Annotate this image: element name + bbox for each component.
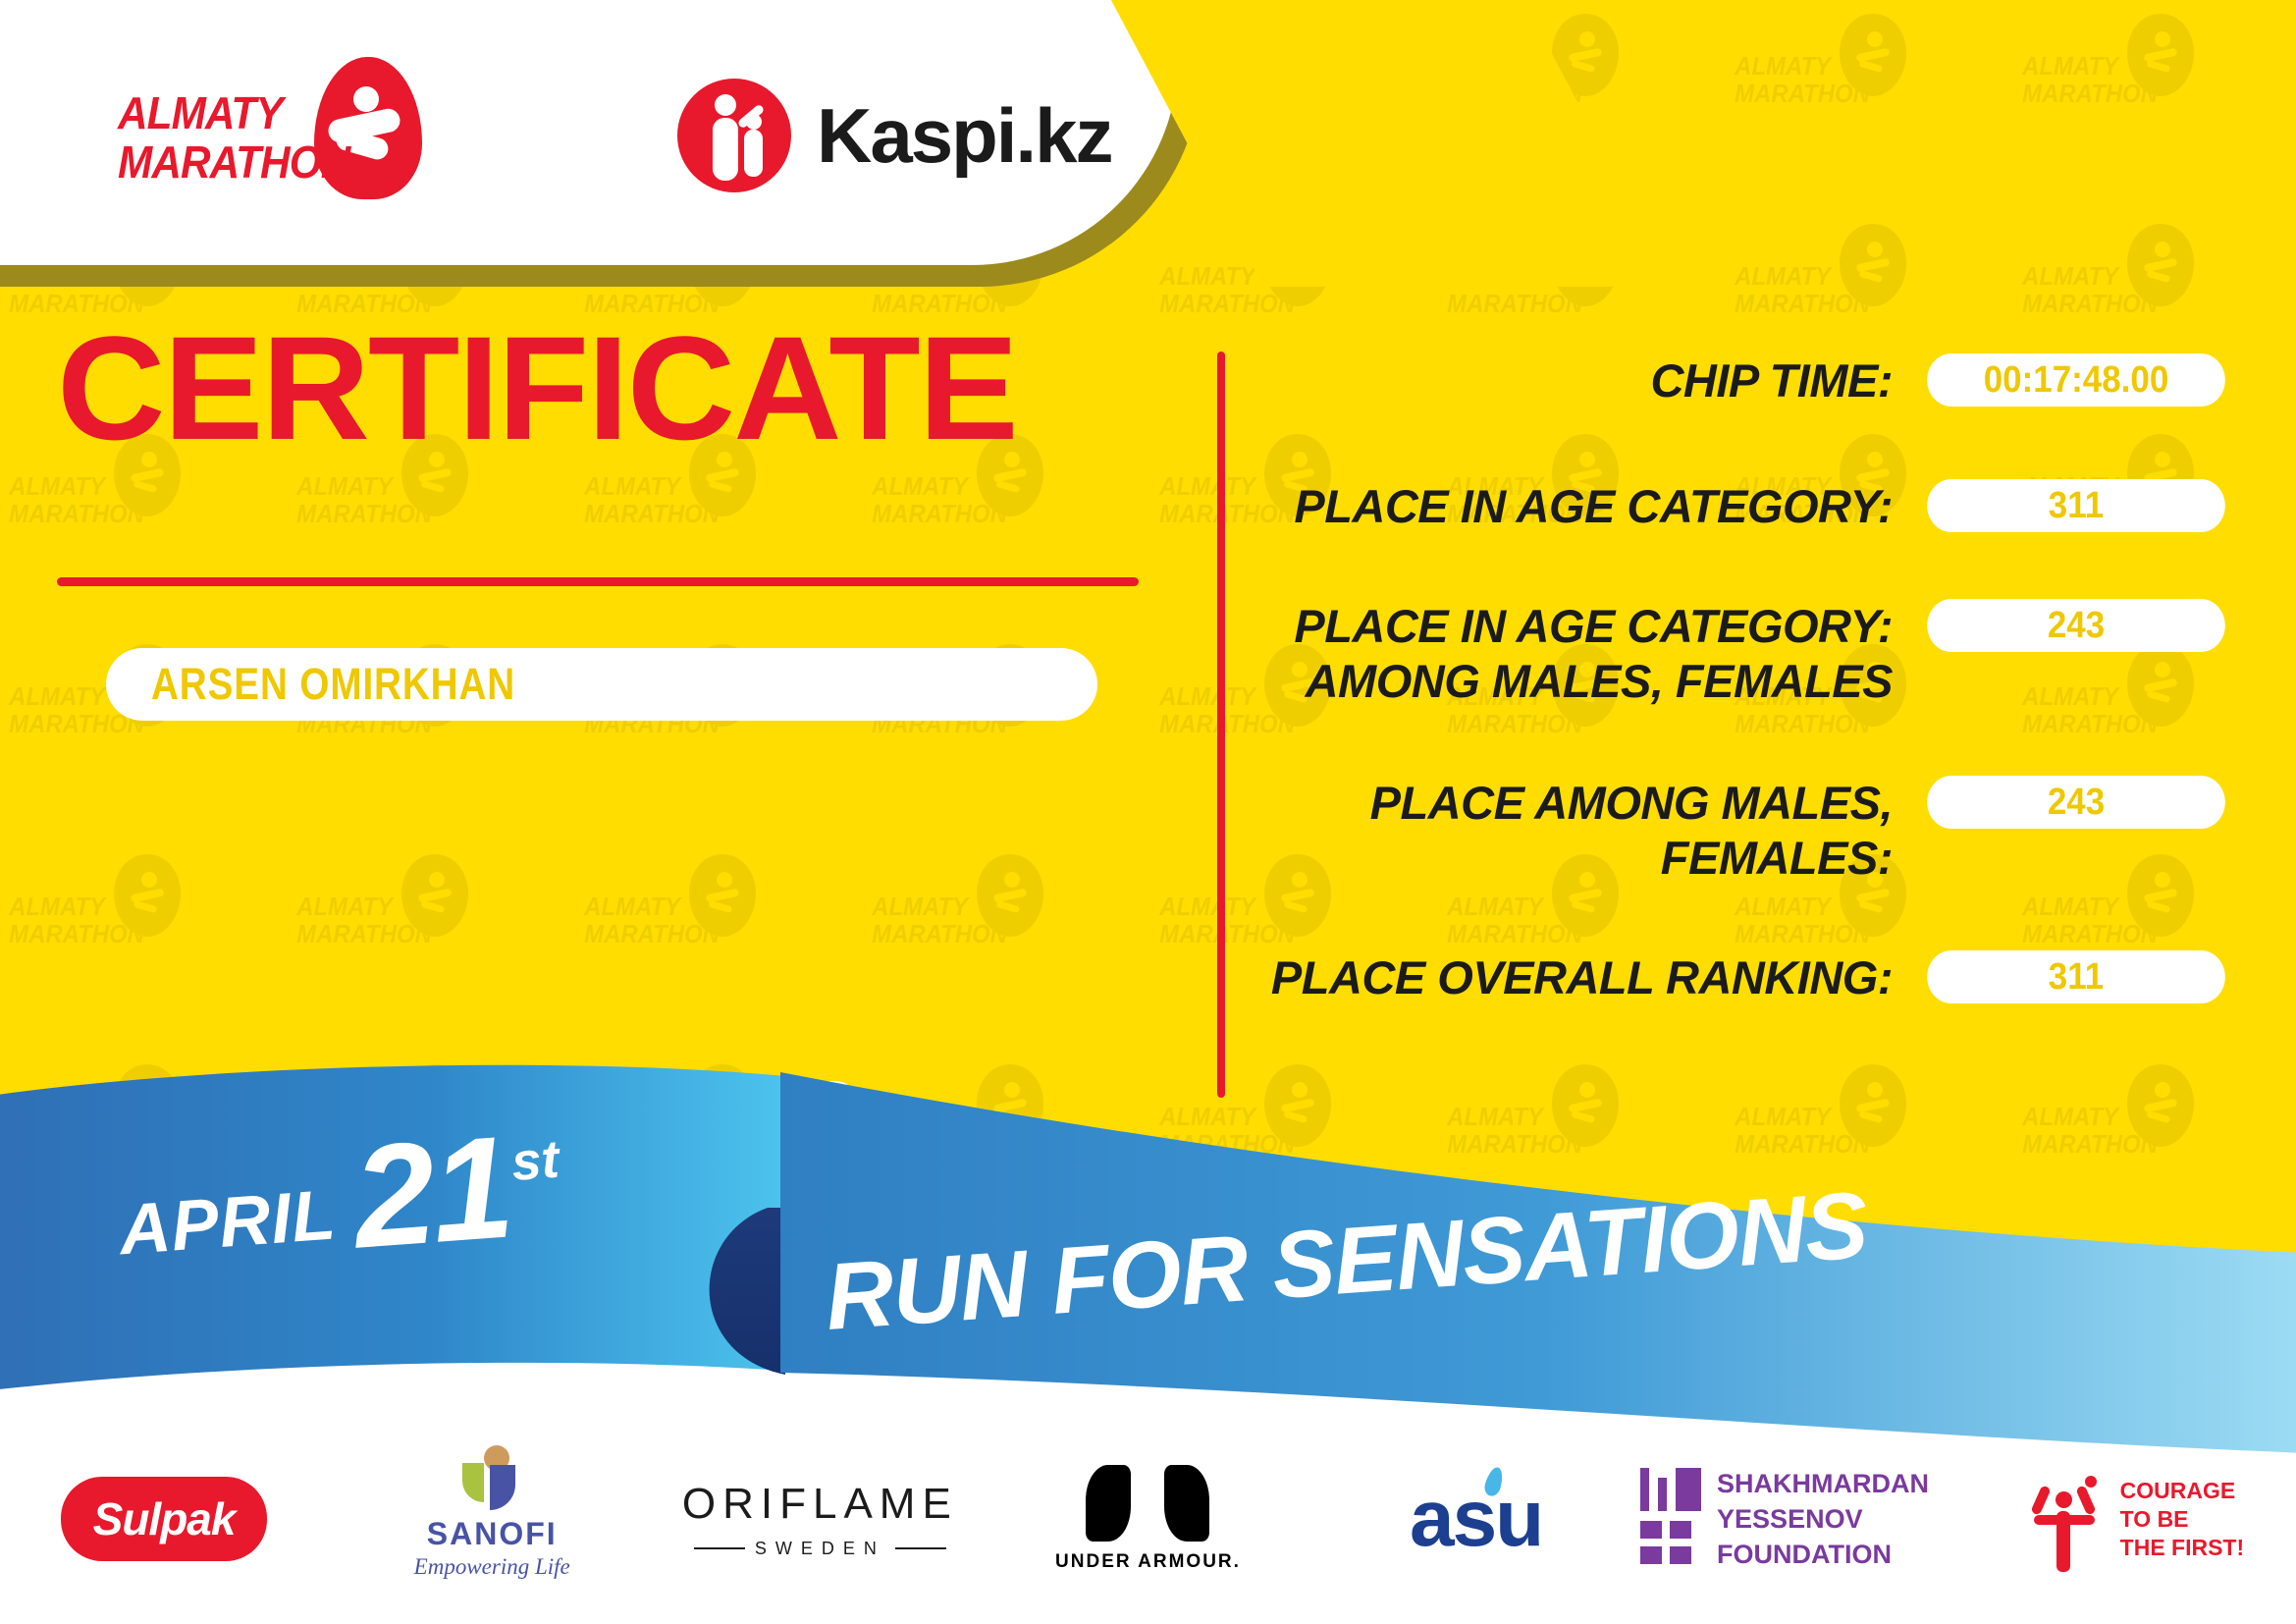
under-armour-logo: UNDER ARMOUR. xyxy=(1040,1465,1255,1573)
sanofi-logo: SANOFI Empowering Life xyxy=(389,1445,595,1593)
courage-line-1: COURAGE xyxy=(2120,1477,2245,1505)
sponsor-sulpak: Sulpak xyxy=(0,1440,328,1597)
logo-line-1: ALMATY xyxy=(118,88,354,137)
courage-fund-logo: COURAGE TO BE THE FIRST! xyxy=(2020,1462,2245,1576)
sponsor-under-armour: UNDER ARMOUR. xyxy=(984,1440,1311,1597)
event-ribbon: APRIL 21 st RUN FOR SENSATIONS xyxy=(0,1060,2296,1453)
event-month: APRIL xyxy=(117,1174,340,1278)
result-value: 243 xyxy=(1927,776,2225,829)
asu-logo: asu xyxy=(1410,1473,1542,1565)
result-label: CHIP TIME: xyxy=(1266,353,1914,408)
asu-wordmark: asu xyxy=(1410,1473,1542,1565)
result-label: PLACE AMONG MALES, FEMALES: xyxy=(1266,776,1914,886)
kaspi-people-icon xyxy=(677,79,791,192)
result-value: 243 xyxy=(1927,599,2225,652)
under-armour-icon xyxy=(1086,1465,1209,1542)
header: ALMATY MARATHON Kaspi.kz xyxy=(0,0,1178,280)
result-value: 00:17:48.00 xyxy=(1927,353,2225,406)
result-row-chip-time: CHIP TIME: 00:17:48.00 xyxy=(1266,353,2238,408)
result-label: PLACE IN AGE CATEGORY: AMONG MALES, FEMA… xyxy=(1266,599,1914,709)
event-day: 21 xyxy=(349,1124,514,1261)
sponsor-asu: asu xyxy=(1312,1440,1640,1597)
result-row-place-overall: PLACE OVERALL RANKING: 311 xyxy=(1266,950,2238,1005)
participant-name-value: ARSEN OMIRKHAN xyxy=(151,659,515,710)
result-value: 311 xyxy=(1927,479,2225,532)
column-divider xyxy=(1217,352,1225,1098)
sulpak-logo: Sulpak xyxy=(61,1477,267,1561)
under-armour-wordmark: UNDER ARMOUR. xyxy=(1040,1551,1255,1573)
event-day-suffix: st xyxy=(509,1133,564,1250)
result-row-place-age-category: PLACE IN AGE CATEGORY: 311 xyxy=(1266,479,2238,534)
sponsor-yessenov-foundation: SHAKHMARDAN YESSENOV FOUNDATION xyxy=(1640,1440,1968,1597)
result-row-place-age-category-gender: PLACE IN AGE CATEGORY: AMONG MALES, FEMA… xyxy=(1266,599,2238,709)
kaspi-logo: Kaspi.kz xyxy=(677,77,1111,194)
courage-fund-wordmark: COURAGE TO BE THE FIRST! xyxy=(2120,1477,2245,1562)
sulpak-wordmark: Sulpak xyxy=(93,1492,236,1545)
almaty-marathon-logo: ALMATY MARATHON xyxy=(118,57,442,214)
sanofi-wordmark: SANOFI xyxy=(389,1516,595,1552)
kaspi-wordmark: Kaspi.kz xyxy=(817,91,1111,181)
participant-name-field: ARSEN OMIRKHAN xyxy=(106,648,1097,721)
sponsor-sanofi: SANOFI Empowering Life xyxy=(328,1440,656,1597)
logo-line-2: MARATHON xyxy=(118,137,354,187)
certificate-page: ALMATY MARATHON Kaspi.kz CERTIFICATE ARS… xyxy=(0,0,2296,1624)
sanofi-mark-icon xyxy=(454,1445,529,1510)
sponsor-courage-fund: COURAGE TO BE THE FIRST! xyxy=(1968,1440,2296,1597)
result-row-place-among-gender: PLACE AMONG MALES, FEMALES: 243 xyxy=(1266,776,2238,886)
almaty-marathon-wordmark: ALMATY MARATHON xyxy=(118,88,375,187)
oriflame-tagline: SWEDEN xyxy=(658,1539,982,1559)
results-column: CHIP TIME: 00:17:48.00 PLACE IN AGE CATE… xyxy=(1266,353,2238,1005)
result-label: PLACE OVERALL RANKING: xyxy=(1266,950,1914,1005)
result-value: 311 xyxy=(1927,950,2225,1003)
result-label: PLACE IN AGE CATEGORY: xyxy=(1266,479,1914,534)
courage-line-2: TO BE xyxy=(2120,1505,2245,1534)
sponsor-oriflame: ORIFLAME SWEDEN xyxy=(656,1440,984,1597)
page-title: CERTIFICATE xyxy=(57,314,1017,461)
yessenov-logo: SHAKHMARDAN YESSENOV FOUNDATION xyxy=(1640,1466,1968,1572)
yessenov-bars-icon xyxy=(1640,1468,1691,1570)
oriflame-wordmark: ORIFLAME xyxy=(658,1480,982,1529)
title-underline xyxy=(57,577,1139,586)
courage-line-3: THE FIRST! xyxy=(2120,1534,2245,1562)
yessenov-wordmark: SHAKHMARDAN YESSENOV FOUNDATION xyxy=(1717,1466,1968,1572)
sanofi-tagline: Empowering Life xyxy=(389,1554,595,1580)
oriflame-logo: ORIFLAME SWEDEN xyxy=(658,1480,982,1559)
yessenov-line-2: FOUNDATION xyxy=(1717,1537,1968,1572)
courage-figure-icon xyxy=(2020,1462,2105,1576)
yessenov-line-1: SHAKHMARDAN YESSENOV xyxy=(1717,1466,1968,1537)
